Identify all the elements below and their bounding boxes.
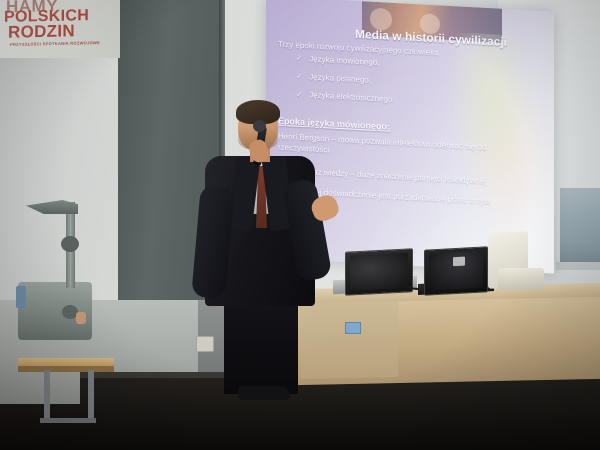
banner-shading	[0, 0, 120, 58]
laptop-left-lid	[345, 248, 413, 296]
laptop-logo	[453, 257, 465, 267]
speaker-shoes	[238, 386, 290, 400]
event-banner: HAMY POLSKICH RODZIN PRZYSZŁOŚCI SPOTKAN…	[0, 0, 120, 58]
white-equipment-base	[498, 268, 544, 290]
desk-side-panel	[300, 299, 398, 379]
projector-focus-knob[interactable]	[61, 236, 79, 252]
microphone-head-icon	[253, 120, 266, 132]
window-sill	[556, 262, 600, 270]
photograph-scene: HAMY POLSKICH RODZIN PRZYSZŁOŚCI SPOTKAN…	[0, 0, 600, 450]
wall-outlet	[196, 336, 214, 352]
laptop-left-screen	[350, 252, 408, 290]
overhead-projector-body	[18, 282, 92, 340]
window	[560, 188, 600, 266]
projector-handle	[76, 312, 86, 324]
projector-side-panel	[16, 286, 26, 308]
speaker-legs	[224, 298, 298, 394]
table-leg	[44, 370, 50, 422]
laptop-right-lid	[424, 246, 488, 295]
table-crossbar	[40, 418, 96, 423]
side-table-edge	[18, 366, 114, 372]
desk-label-sticker	[345, 322, 361, 334]
table-leg	[88, 370, 94, 422]
